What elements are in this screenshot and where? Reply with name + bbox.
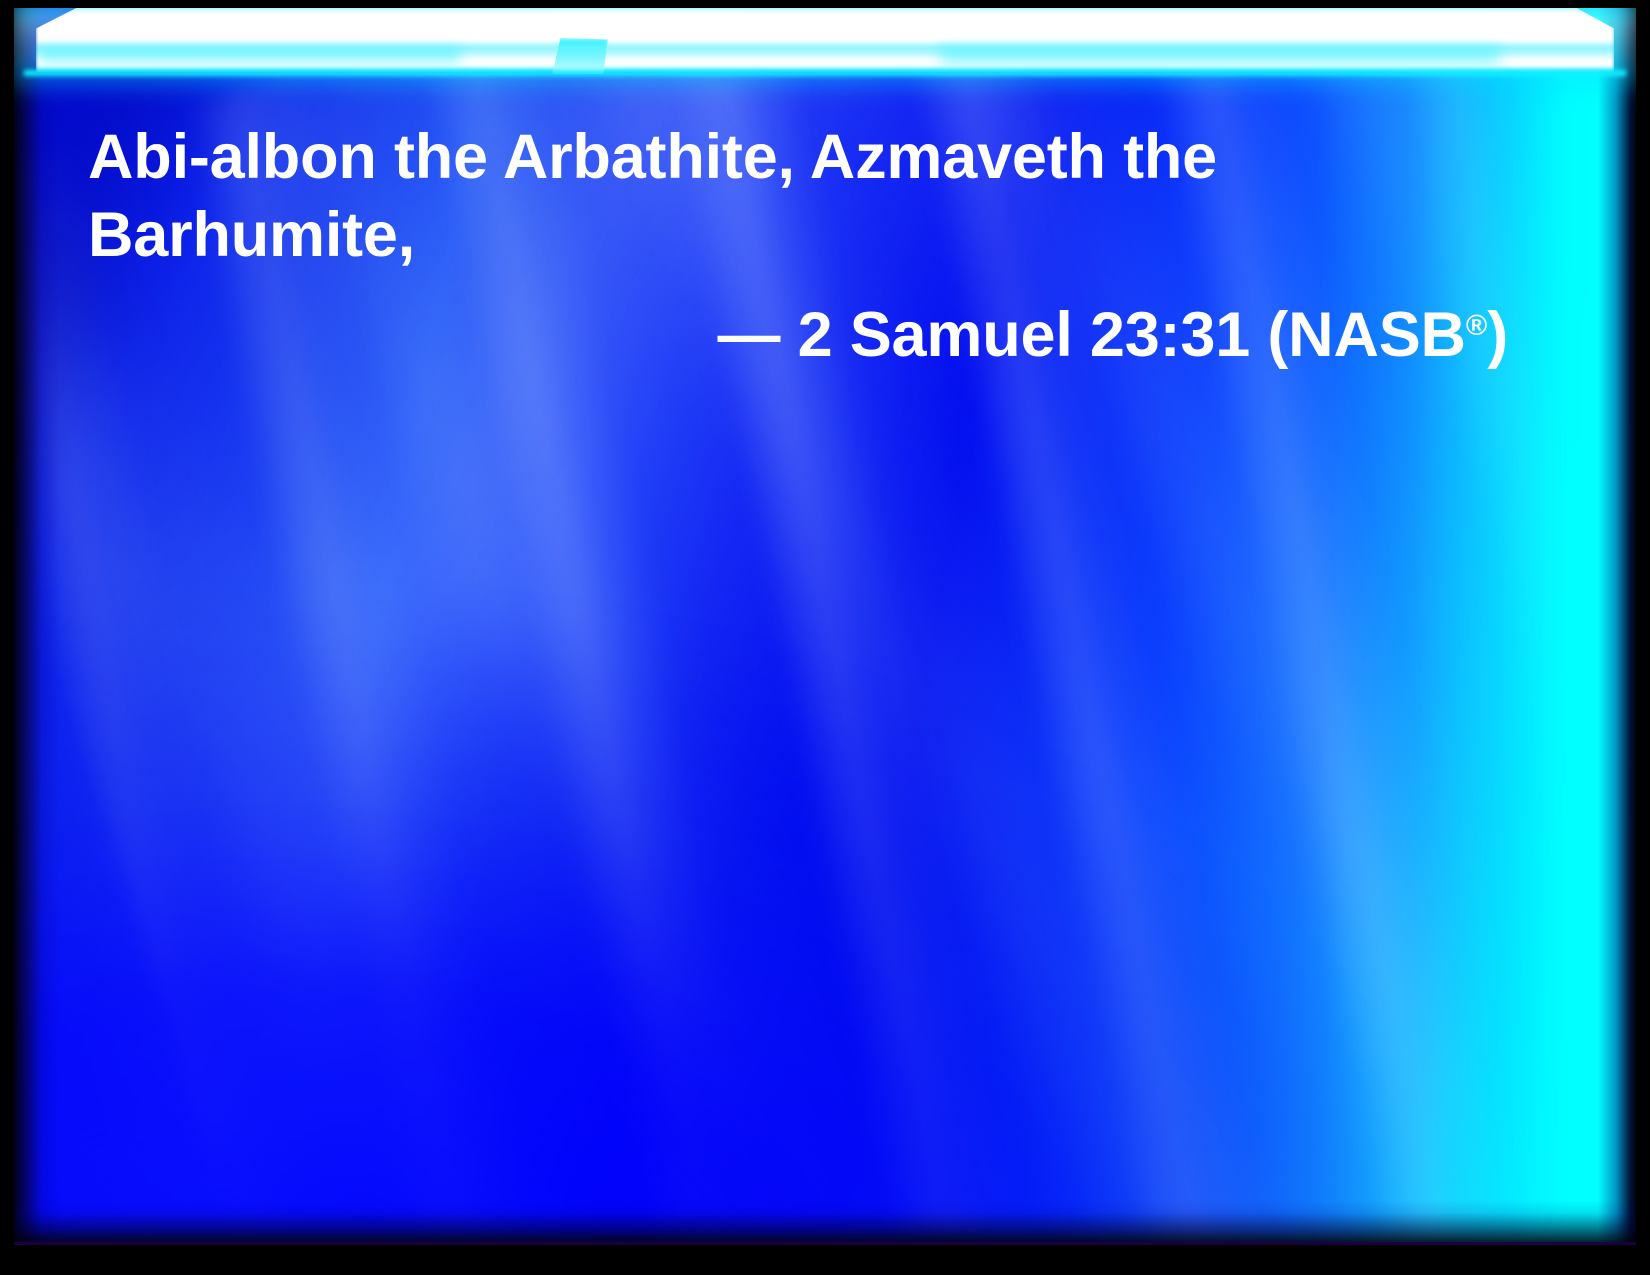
scripture-slide: Abi-albon the Arbathite, Azmaveth the Ba… (0, 0, 1650, 1275)
frame-right (1636, 0, 1650, 1275)
frame-bottom (0, 1245, 1650, 1275)
verse-citation: — 2 Samuel 23:31 (NASB®) (88, 287, 1508, 374)
citation-close-paren: ) (1487, 300, 1508, 370)
verse-body-text: Abi-albon the Arbathite, Azmaveth the Ba… (88, 118, 1378, 274)
registered-trademark-icon: ® (1466, 310, 1487, 342)
frame-left (0, 0, 14, 1275)
citation-em-dash: — (717, 300, 780, 370)
citation-reference: 2 Samuel 23:31 (NASB (780, 300, 1466, 370)
frame-top (0, 0, 1650, 8)
verse-text-layer: Abi-albon the Arbathite, Azmaveth the Ba… (0, 0, 1650, 1275)
